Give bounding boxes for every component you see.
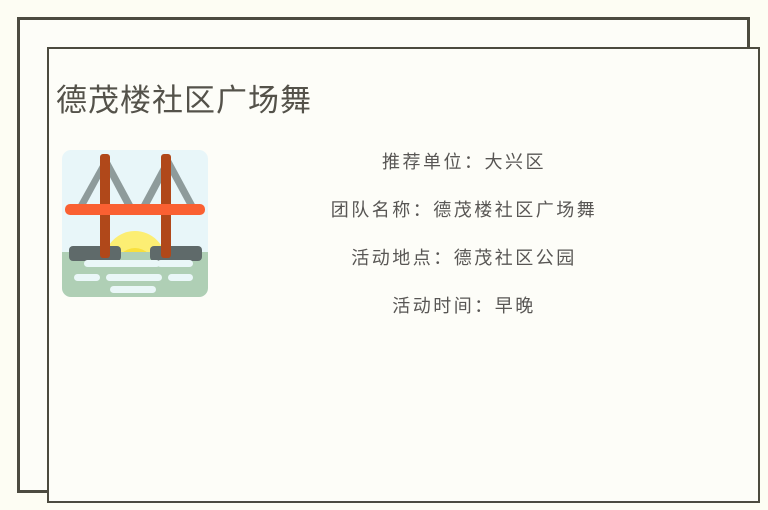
info-row-activity-location: 活动地点：德茂社区公园 [229, 235, 699, 283]
info-value-activity-time: 早晚 [495, 296, 536, 317]
page-title: 德茂楼社区广场舞 [56, 79, 312, 123]
info-label-activity-location: 活动地点： [351, 248, 454, 269]
info-label-team-name: 团队名称： [331, 200, 434, 221]
detail-section: 推荐单位：大兴区 团队名称：德茂楼社区广场舞 活动地点：德茂社区公园 活动时间：… [29, 139, 738, 359]
info-list: 推荐单位：大兴区 团队名称：德茂楼社区广场舞 活动地点：德茂社区公园 活动时间：… [229, 139, 699, 331]
info-value-activity-location: 德茂社区公园 [454, 248, 577, 269]
info-row-team-name: 团队名称：德茂楼社区广场舞 [229, 187, 699, 235]
info-label-recommending-unit: 推荐单位： [382, 152, 485, 173]
info-row-recommending-unit: 推荐单位：大兴区 [229, 139, 699, 187]
card-content: 德茂楼社区广场舞 [29, 29, 738, 481]
info-row-activity-time: 活动时间：早晚 [229, 283, 699, 331]
info-value-team-name: 德茂楼社区广场舞 [433, 200, 597, 221]
info-value-recommending-unit: 大兴区 [485, 152, 547, 173]
bridge-sunset-icon [62, 150, 208, 297]
page-root: 德茂楼社区广场舞 [0, 0, 768, 510]
info-label-activity-time: 活动时间： [392, 296, 495, 317]
